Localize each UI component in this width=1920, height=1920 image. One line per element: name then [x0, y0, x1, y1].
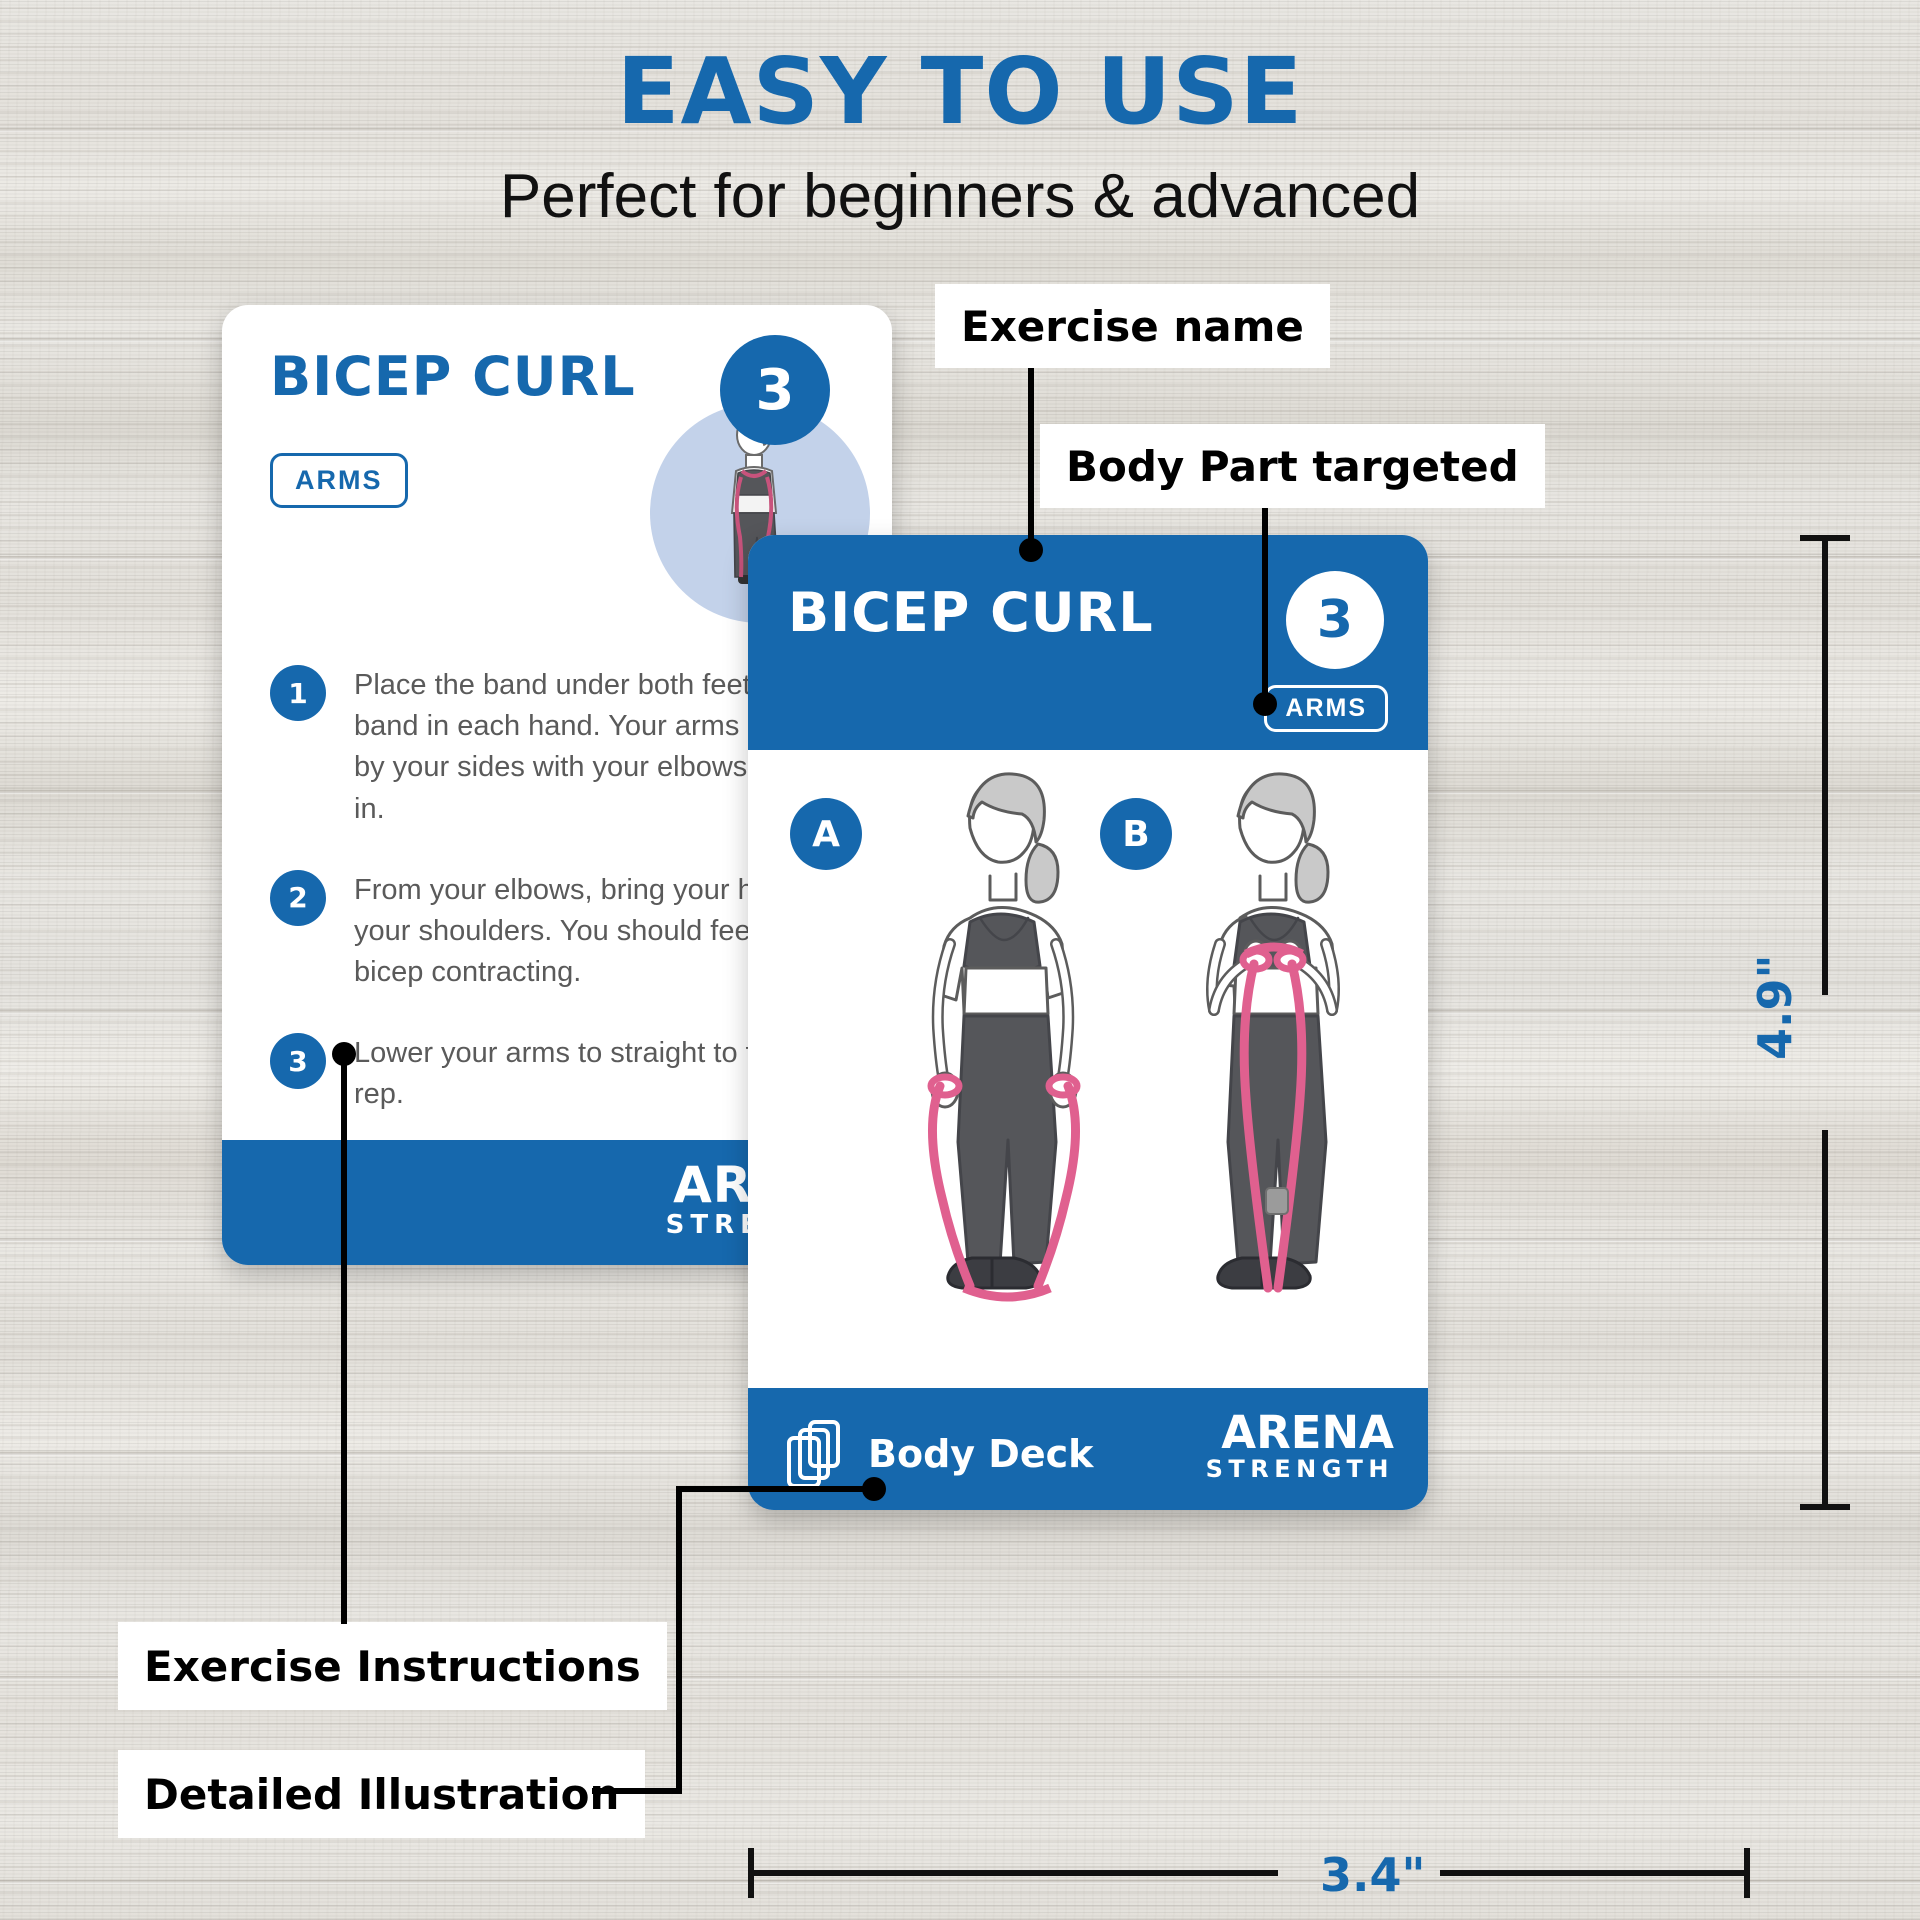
- leader-dot-body-part: [1253, 692, 1277, 716]
- headline-main: EASY TO USE: [0, 44, 1920, 141]
- leader-line-illustration-h1: [592, 1788, 682, 1794]
- back-card-body-part-badge: ARMS: [270, 453, 408, 508]
- width-dimension-line-left: [748, 1870, 1278, 1876]
- width-dimension-line-right: [1440, 1870, 1750, 1876]
- step-number: 2: [270, 870, 326, 926]
- brand-name-top: ARENA: [1206, 1410, 1394, 1455]
- step-number: 1: [270, 665, 326, 721]
- width-dimension-label: 3.4": [1320, 1848, 1425, 1902]
- leader-dot-illustration: [862, 1477, 886, 1501]
- callout-detailed-illustration: Detailed Illustration: [118, 1750, 645, 1838]
- front-card-brand-logo: ARENA STRENGTH: [1206, 1410, 1394, 1483]
- height-dimension-cap-top: [1800, 535, 1850, 541]
- callout-body-part: Body Part targeted: [1040, 424, 1545, 508]
- front-card[interactable]: BICEP CURL 3 ARMS A B: [748, 535, 1428, 1510]
- height-dimension-line-bottom: [1822, 1130, 1828, 1510]
- height-dimension-label: 4.9": [1748, 955, 1802, 1060]
- back-card-title: BICEP CURL: [270, 345, 636, 408]
- illustration-figure-a: [878, 768, 1108, 1348]
- width-dimension-cap-right: [1744, 1848, 1750, 1898]
- width-dimension-cap-left: [748, 1848, 754, 1898]
- front-card-body-part-badge: ARMS: [1264, 685, 1388, 732]
- brand-name-bottom: STRENGTH: [1206, 1455, 1394, 1483]
- body-deck-group: Body Deck: [784, 1418, 1093, 1490]
- front-card-number-badge: 3: [1286, 571, 1384, 669]
- leader-line-illustration-v: [676, 1486, 682, 1794]
- front-card-header: BICEP CURL 3 ARMS: [748, 535, 1428, 750]
- back-card-number-badge: 3: [720, 335, 830, 445]
- leader-line-illustration-h2: [676, 1486, 876, 1492]
- exercise-illustration-area: A B: [748, 750, 1428, 1390]
- cards-stack-icon: [784, 1418, 848, 1490]
- headline-subtitle: Perfect for beginners & advanced: [0, 163, 1920, 231]
- leader-dot-exercise-name: [1019, 538, 1043, 562]
- leader-dot-instructions: [332, 1042, 356, 1066]
- leader-line-exercise-name: [1028, 368, 1034, 550]
- height-dimension-line-top: [1822, 535, 1828, 995]
- illustration-figure-b: [1148, 768, 1378, 1348]
- callout-exercise-name: Exercise name: [935, 284, 1330, 368]
- figure-label-a: A: [790, 798, 862, 870]
- front-card-title: BICEP CURL: [788, 581, 1154, 644]
- body-deck-label: Body Deck: [868, 1432, 1093, 1476]
- callout-exercise-instructions: Exercise Instructions: [118, 1622, 667, 1710]
- height-dimension-cap-bottom: [1800, 1504, 1850, 1510]
- leader-line-body-part: [1262, 508, 1268, 704]
- step-number: 3: [270, 1033, 326, 1089]
- headline-block: EASY TO USE Perfect for beginners & adva…: [0, 44, 1920, 231]
- leader-line-instructions: [341, 1058, 347, 1624]
